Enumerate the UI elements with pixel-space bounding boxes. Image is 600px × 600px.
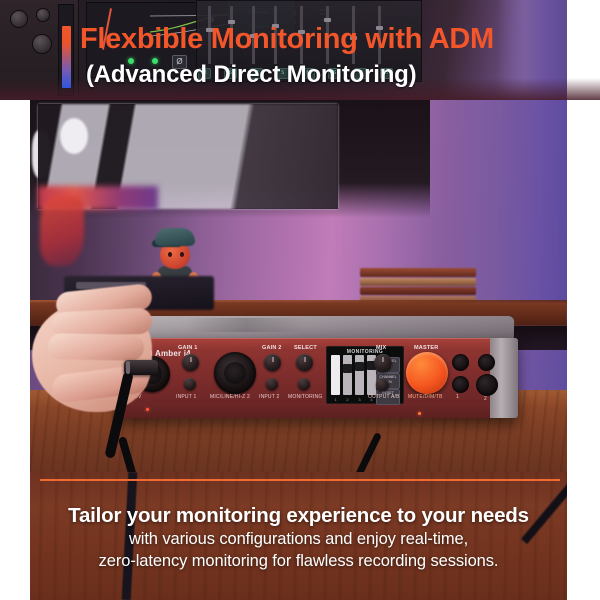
select-knob[interactable] [296,354,313,371]
input-2-button[interactable] [266,378,278,390]
label-select: SELECT [294,345,317,351]
book [360,287,476,295]
output-jack-1-top[interactable] [452,354,469,371]
label-input-2: INPUT 2 [259,394,279,400]
label-mix: MIX [376,345,386,351]
label-monitoring: MONITORING [288,394,322,400]
label-gain-2: GAIN 2 [262,345,282,351]
product-infographic: Ø Snapshot 8 Snapshot 7 Snapshot 6 [0,0,600,600]
footer-headline: Tailor your monitoring experience to you… [30,504,567,528]
output-ab-button[interactable] [376,378,389,391]
mix-indicator [383,357,384,362]
accent-bar [62,26,71,88]
label-output-1: 1 [456,394,459,400]
lcd-channel-number: 2 [343,397,352,402]
lcd-fader-3[interactable] [355,355,364,395]
monitoring-button[interactable] [298,378,310,390]
label-mute-dim-tb: MUTE/DIM/TB [408,394,443,400]
footer-line-2: with various configurations and enjoy re… [30,530,567,549]
page-subtitle: (Advanced Direct Monitoring) [86,60,586,90]
select-indicator [304,357,305,362]
figurine-eye-right [180,252,184,257]
left-white-margin [0,100,30,600]
finger-ring [48,333,144,361]
figurine-cap [155,228,195,246]
device-top-logo [186,318,306,332]
label-master: MASTER [414,345,438,351]
footer-divider [40,479,560,481]
figurine-eye-left [168,252,172,257]
daw-knob-1[interactable] [10,10,28,28]
input-jack-2[interactable] [214,352,256,394]
output-jack-2[interactable] [476,374,498,396]
hand [22,284,182,444]
xlr-plug-ring [126,361,130,374]
label-output-ab: OUTPUT A/B [368,394,400,400]
gain-2-indicator [272,357,273,362]
lcd-fader-cap-2[interactable] [343,364,352,373]
hero-band: Ø Snapshot 8 Snapshot 7 Snapshot 6 [0,0,600,100]
lcd-fader-cap-3[interactable] [355,362,364,371]
lcd-fader-cap-1[interactable] [331,358,340,367]
page-title: Flexbible Monitoring with ADM [80,22,580,56]
daw-knob-2[interactable] [36,8,50,22]
gain-1-indicator [190,357,191,362]
background-guitar [40,196,84,266]
daw-knob-3[interactable] [32,34,52,54]
book [360,278,476,286]
input-1-button[interactable] [184,378,196,390]
lcd-channel-number: 3 [355,397,364,402]
book [360,268,476,277]
mix-knob[interactable] [374,354,392,372]
output-jack-1[interactable] [452,376,469,393]
input-jack-2-inner [224,362,246,384]
lcd-channel-number: 1 [331,397,340,402]
output-jack-2-top[interactable] [478,354,495,371]
gain-2-knob[interactable] [264,354,281,371]
gain-1-knob[interactable] [182,354,199,371]
label-mic-line-hiz-2: MIC/LINE/HI-Z 2 [210,394,250,400]
footer-line-3: zero-latency monitoring for flawless rec… [30,552,567,571]
status-led [418,412,421,415]
master-volume-knob[interactable] [406,352,448,394]
lcd-fader-2[interactable] [343,355,352,395]
label-output-2: 2 [484,396,487,402]
right-white-margin [567,100,600,600]
footer-band: Tailor your monitoring experience to you… [30,472,567,600]
